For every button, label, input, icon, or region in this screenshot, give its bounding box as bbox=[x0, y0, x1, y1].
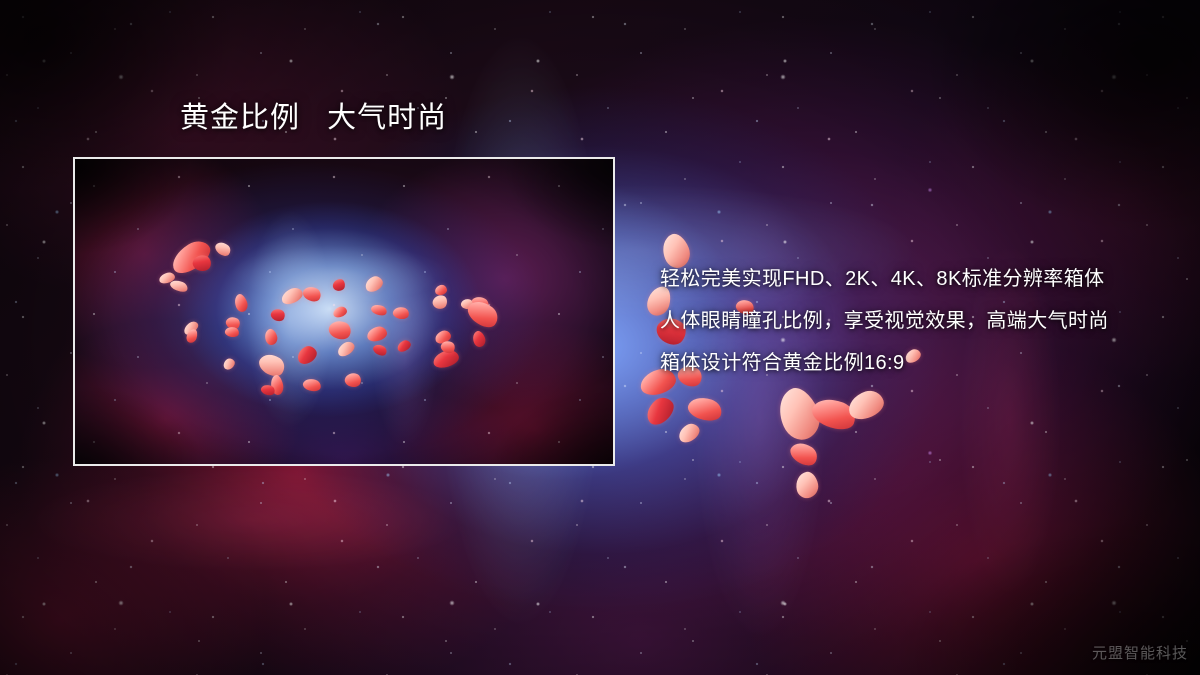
slide-canvas: 黄金比例 大气时尚 轻松完美实现FHD、2K、4K、8K标准分辨率箱体 人体眼睛… bbox=[0, 0, 1200, 675]
body-line-2: 人体眼睛瞳孔比例，享受视觉效果，高端大气时尚 bbox=[660, 300, 1190, 342]
page-title: 黄金比例 大气时尚 bbox=[180, 101, 447, 135]
body-line-1: 轻松完美实现FHD、2K、4K、8K标准分辨率箱体 bbox=[660, 258, 1190, 300]
frame-vignette bbox=[75, 159, 613, 464]
body-copy-block: 轻松完美实现FHD、2K、4K、8K标准分辨率箱体 人体眼睛瞳孔比例，享受视觉效… bbox=[660, 258, 1190, 384]
framed-display-image[interactable] bbox=[73, 157, 615, 466]
body-line-3: 箱体设计符合黄金比例16:9 bbox=[660, 342, 1190, 384]
watermark: 元盟智能科技 bbox=[1092, 642, 1188, 663]
